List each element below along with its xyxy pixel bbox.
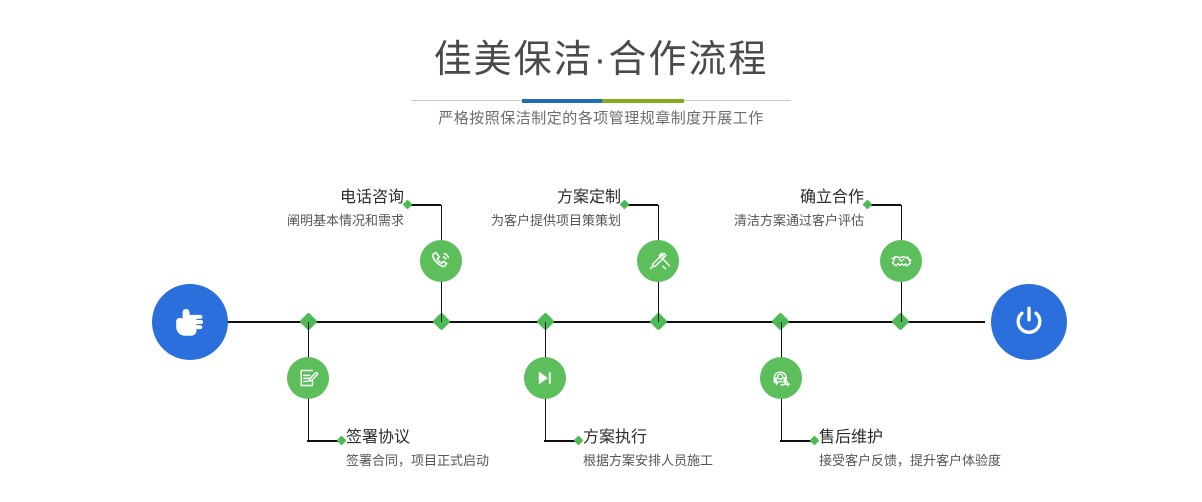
divider-segment-green — [602, 99, 684, 103]
timeline-axis — [219, 321, 985, 323]
handshake-icon — [889, 249, 914, 274]
step-6-title: 售后维护 — [819, 428, 1149, 448]
flow-end-node — [991, 284, 1067, 360]
cooperation-process-infographic: 佳美保洁·合作流程 严格按照保洁制定的各项管理规章制度开展工作 — [0, 0, 1202, 502]
step-4-connector-horizontal — [544, 440, 577, 442]
step-2-marker — [337, 436, 347, 446]
page-title: 佳美保洁·合作流程 — [0, 38, 1202, 82]
step-5-connector-horizontal — [871, 204, 901, 206]
pencil-edit-icon — [646, 249, 670, 273]
step-1-icon-badge — [420, 240, 462, 282]
step-2-icon-badge — [287, 357, 329, 399]
step-3-icon-badge — [637, 240, 679, 282]
step-3-title: 方案定制 — [360, 188, 621, 208]
step-4-icon-badge — [524, 357, 566, 399]
step-2-connector-horizontal — [307, 440, 340, 442]
power-icon — [1009, 302, 1049, 342]
sign-document-icon — [296, 366, 320, 390]
title-divider — [411, 99, 791, 103]
customer-service-add-icon — [769, 366, 793, 390]
step-5-label: 确立合作 清洁方案通过客户评估 — [604, 188, 864, 230]
step-6-icon-badge — [760, 357, 802, 399]
phone-call-icon — [429, 249, 453, 273]
pointing-hand-icon — [169, 301, 211, 343]
step-6-connector-horizontal — [780, 440, 813, 442]
step-3-desc: 为客户提供项目策策划 — [360, 212, 621, 230]
step-6-desc: 接受客户反馈，提升客户体验度 — [819, 452, 1149, 470]
flow-start-node — [152, 284, 228, 360]
step-5-icon-badge — [880, 240, 922, 282]
step-3-label: 方案定制 为客户提供项目策策划 — [360, 188, 621, 230]
step-5-title: 确立合作 — [604, 188, 864, 208]
step-5-marker — [863, 200, 873, 210]
play-execute-icon — [534, 367, 556, 389]
step-6-label: 售后维护 接受客户反馈，提升客户体验度 — [819, 428, 1149, 470]
step-5-desc: 清洁方案通过客户评估 — [604, 212, 864, 230]
page-subtitle: 严格按照保洁制定的各项管理规章制度开展工作 — [0, 108, 1202, 130]
divider-segment-blue — [522, 99, 602, 103]
